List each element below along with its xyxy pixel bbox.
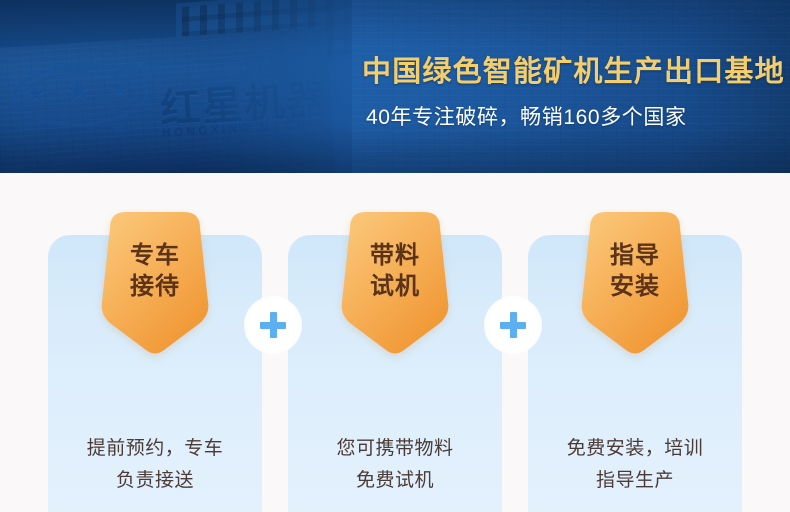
card-description-line2: 免费试机	[288, 465, 502, 497]
hero-banner: ★ ★ ★ ® 星 红星机器 HONGXING MACHINERY 中国绿色智能…	[0, 0, 790, 173]
plus-separator	[244, 296, 302, 354]
service-cards-row: 提前预约，专车 负责接送 您可携带物料 免费试机 免费安装，培训 指导生产	[0, 173, 790, 512]
service-badge-label: 指导 安装	[576, 240, 694, 302]
card-description-line2: 指导生产	[528, 465, 742, 497]
service-badge-label: 专车 接待	[96, 240, 214, 302]
promo-page: ★ ★ ★ ® 星 红星机器 HONGXING MACHINERY 中国绿色智能…	[0, 0, 790, 512]
service-badge-shield: 带料 试机	[336, 210, 454, 356]
banner-text-block: 中国绿色智能矿机生产出口基地 40年专注破碎，畅销160多个国家	[358, 0, 790, 173]
service-badge-line2: 试机	[336, 271, 454, 302]
banner-title: 中国绿色智能矿机生产出口基地	[362, 48, 785, 90]
service-badge-shield: 专车 接待	[96, 210, 214, 356]
card-description: 您可携带物料 免费试机	[288, 433, 502, 497]
service-badge-label: 带料 试机	[336, 240, 454, 302]
card-description: 提前预约，专车 负责接送	[48, 433, 262, 497]
service-badge-line1: 专车	[130, 242, 180, 269]
service-badge-line1: 指导	[610, 242, 660, 269]
card-description-line1: 提前预约，专车	[87, 438, 224, 459]
card-description-line1: 免费安装，培训	[567, 438, 704, 459]
card-description-line1: 您可携带物料	[336, 438, 453, 459]
service-badge-line1: 带料	[370, 242, 420, 269]
service-badge-shield: 指导 安装	[576, 210, 694, 356]
card-description-line2: 负责接送	[48, 465, 262, 497]
card-description: 免费安装，培训 指导生产	[528, 433, 742, 497]
service-badge-line2: 接待	[96, 271, 214, 302]
service-badge-line2: 安装	[576, 271, 694, 302]
plus-icon	[500, 312, 526, 338]
plus-icon	[260, 312, 286, 338]
plus-separator	[484, 296, 542, 354]
banner-subtitle: 40年专注破碎，畅销160多个国家	[366, 101, 687, 131]
